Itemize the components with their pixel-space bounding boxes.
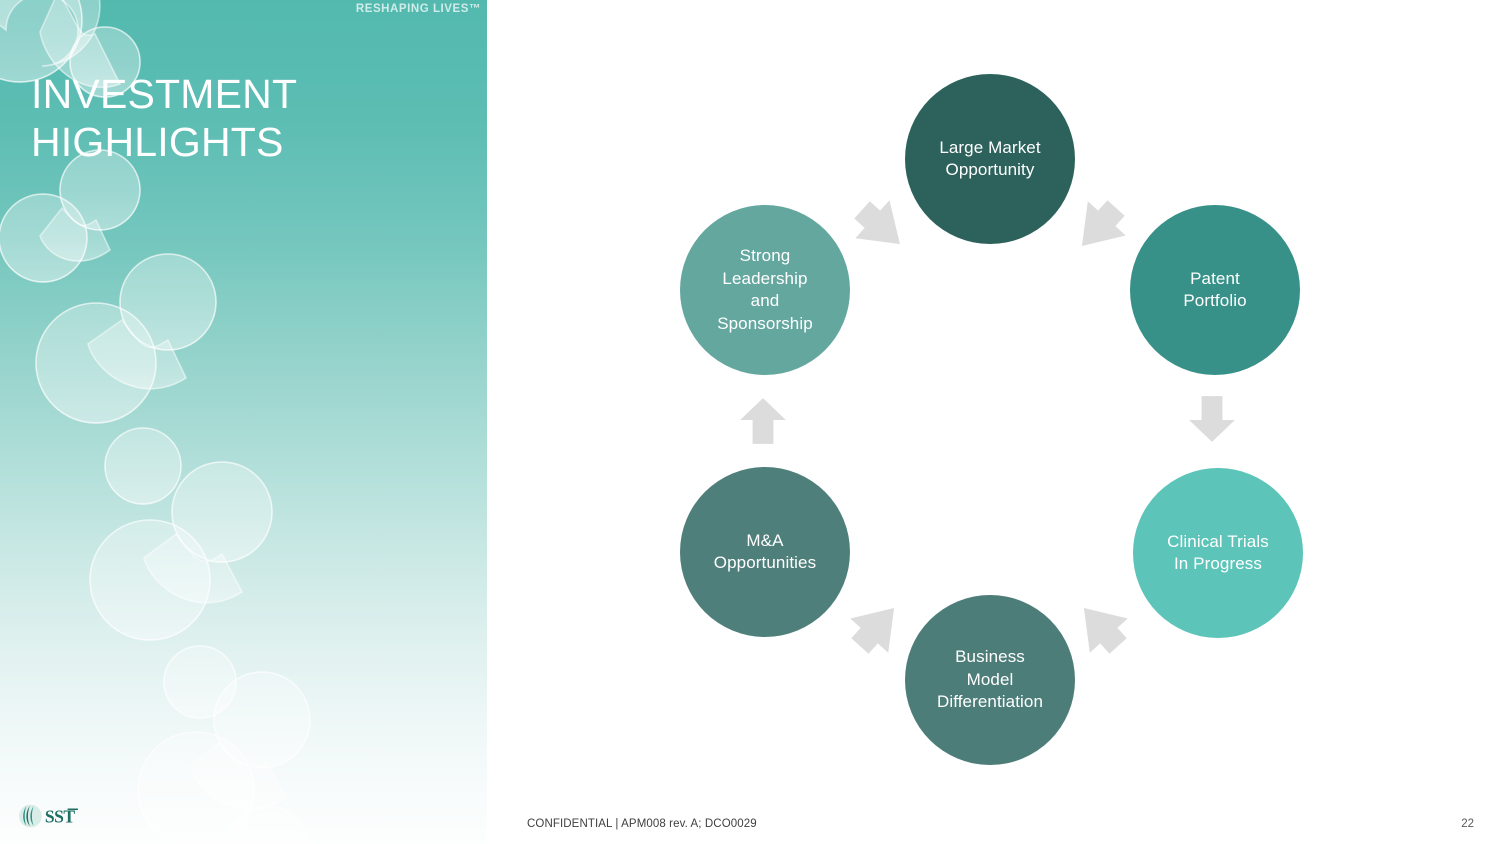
arrow-down-icon (1186, 388, 1238, 450)
node-label-line: and (717, 290, 813, 313)
node-label-line: Opportunity (939, 159, 1040, 182)
node-label-line: In Progress (1167, 553, 1269, 576)
node-label-line: Portfolio (1183, 290, 1246, 313)
investment-highlights-cycle-diagram: Large Market Opportunity Patent Portfoli… (620, 50, 1380, 790)
page-title: INVESTMENT HIGHLIGHTS (31, 70, 451, 166)
node-clinical-trials-in-progress[interactable]: Clinical Trials In Progress (1133, 468, 1303, 638)
arrow-up-left-icon (836, 586, 918, 668)
node-label-line: Business (937, 646, 1043, 669)
node-patent-portfolio[interactable]: Patent Portfolio (1130, 205, 1300, 375)
node-label-line: Large Market (939, 137, 1040, 160)
node-strong-leadership-and-sponsorship[interactable]: Strong Leadership and Sponsorship (680, 205, 850, 375)
node-label-line: M&A (714, 530, 816, 553)
node-large-market-opportunity[interactable]: Large Market Opportunity (905, 74, 1075, 244)
node-ma-opportunities[interactable]: M&A Opportunities (680, 467, 850, 637)
node-business-model-differentiation[interactable]: Business Model Differentiation (905, 595, 1075, 765)
arrow-up-icon (737, 390, 789, 452)
arrow-down-left-icon (1060, 586, 1142, 668)
node-label-line: Model (937, 669, 1043, 692)
arrow-up-right-icon (840, 186, 922, 268)
node-label-line: Sponsorship (717, 313, 813, 336)
title-panel: RESHAPING LIVES™ INVESTMENT HIGHLIGHTS S… (0, 0, 487, 844)
page-number: 22 (1461, 818, 1474, 830)
brand-tagline: RESHAPING LIVES™ (356, 3, 481, 15)
sst-logo: SST (18, 801, 80, 831)
slide-canvas: RESHAPING LIVES™ INVESTMENT HIGHLIGHTS S… (0, 0, 1500, 844)
confidentiality-footer: CONFIDENTIAL | APM008 rev. A; DCO0029 (527, 818, 757, 830)
node-label-line: Patent (1183, 268, 1246, 291)
page-title-line-2: HIGHLIGHTS (31, 118, 451, 166)
node-label-line: Strong (717, 245, 813, 268)
node-label-line: Leadership (717, 268, 813, 291)
node-label-line: Differentiation (937, 691, 1043, 714)
node-label-line: Opportunities (714, 552, 816, 575)
arrow-down-right-icon (1058, 186, 1140, 268)
page-title-line-1: INVESTMENT (31, 70, 451, 118)
node-label-line: Clinical Trials (1167, 531, 1269, 554)
